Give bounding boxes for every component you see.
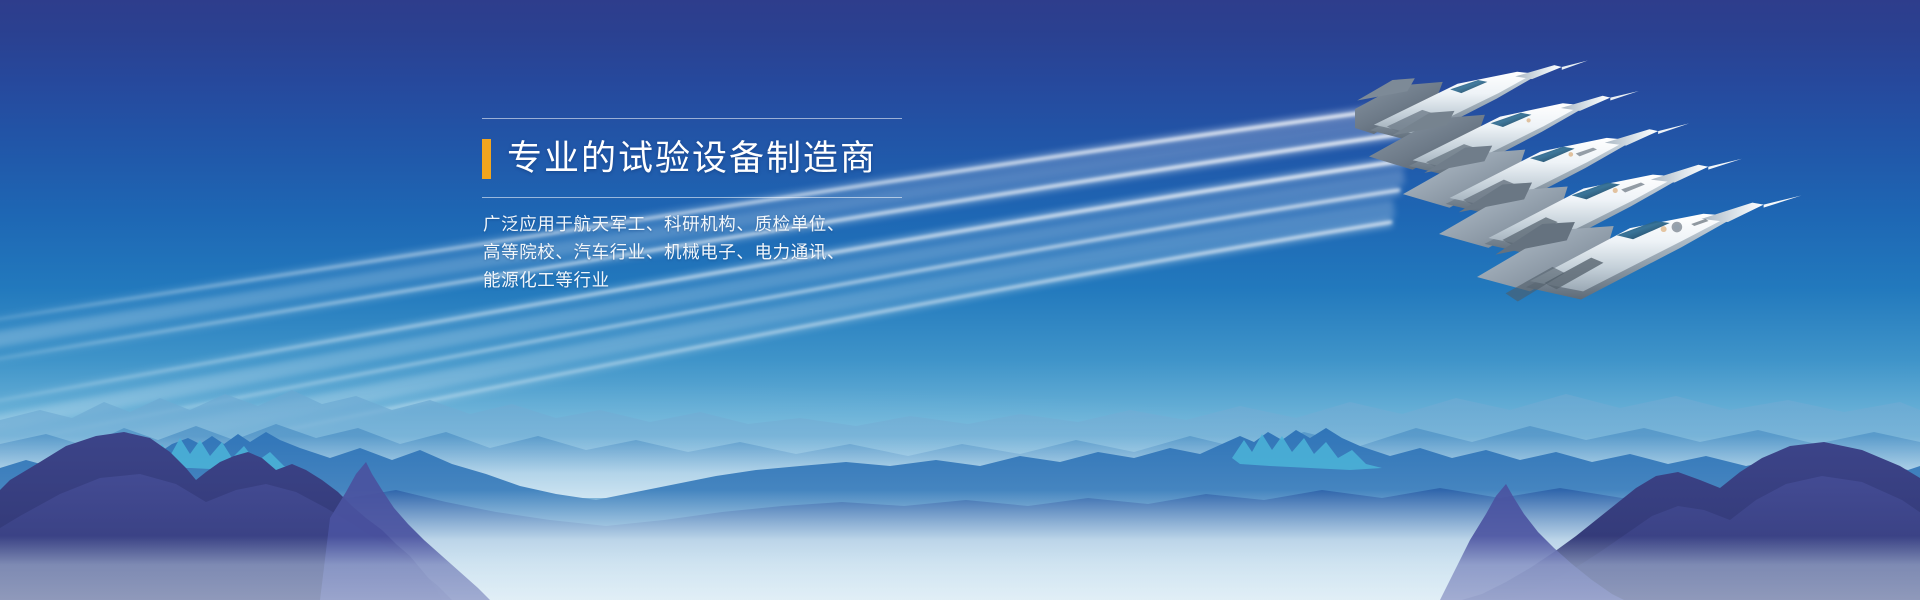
divider-bottom: [482, 197, 902, 198]
hero-banner: 专业的试验设备制造商 广泛应用于航天军工、科研机构、质检单位、 高等院校、汽车行…: [0, 0, 1920, 600]
subtitle-line-1: 广泛应用于航天军工、科研机构、质检单位、: [483, 210, 962, 238]
fighter-jet-formation: [1355, 45, 1915, 305]
accent-bar: [482, 139, 491, 179]
banner-copy: 专业的试验设备制造商 广泛应用于航天军工、科研机构、质检单位、 高等院校、汽车行…: [482, 118, 962, 294]
page-title: 专业的试验设备制造商: [507, 139, 877, 179]
subtitle-block: 广泛应用于航天军工、科研机构、质检单位、 高等院校、汽车行业、机械电子、电力通讯…: [482, 210, 962, 294]
subtitle-line-3: 能源化工等行业: [483, 266, 962, 294]
subtitle-line-2: 高等院校、汽车行业、机械电子、电力通讯、: [483, 238, 962, 266]
divider-top: [482, 118, 902, 119]
valley-haze: [0, 536, 1920, 600]
headline-row: 专业的试验设备制造商: [482, 130, 962, 188]
mountain-range-silhouettes: [0, 340, 1920, 600]
